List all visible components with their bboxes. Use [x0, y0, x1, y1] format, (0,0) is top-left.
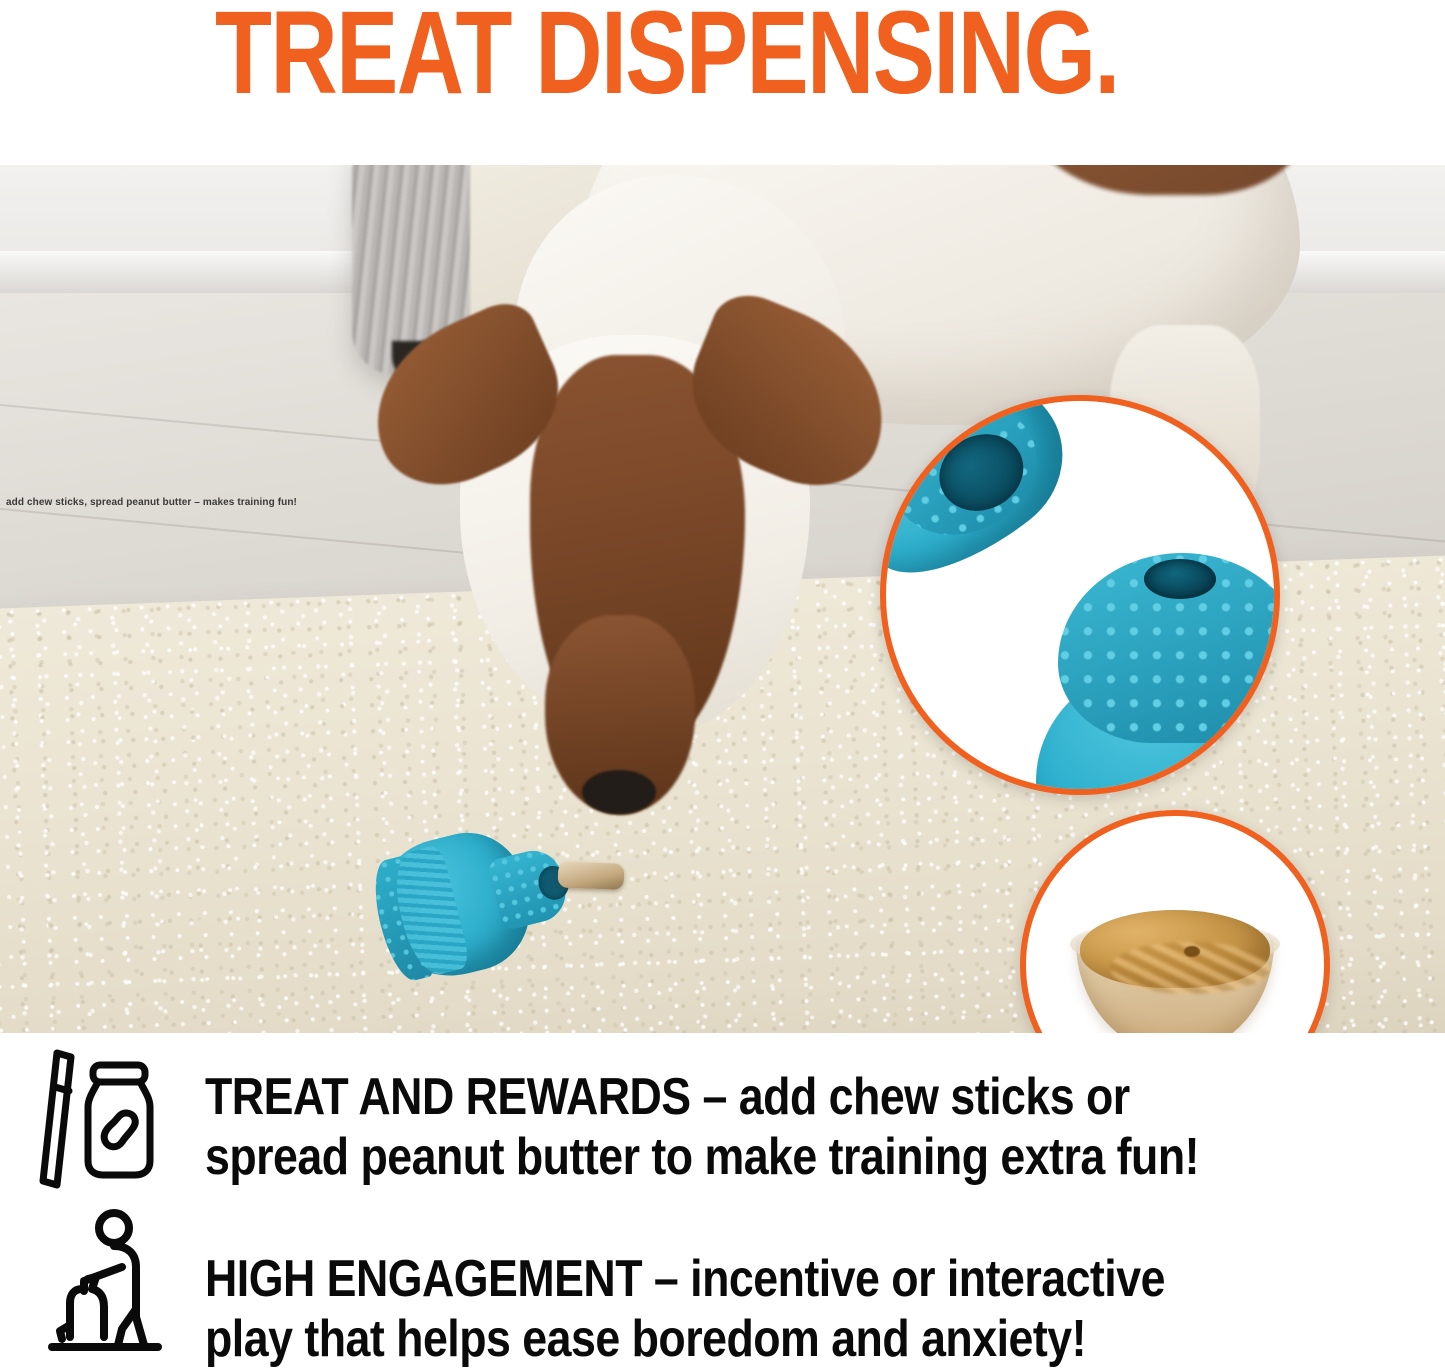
peanut-butter-bowl	[1066, 886, 1284, 1033]
feature-row: HIGH ENGAGEMENT – incentive or interacti…	[0, 1201, 1445, 1359]
feature-lead: HIGH ENGAGEMENT	[205, 1250, 642, 1308]
feature-dash: –	[691, 1068, 739, 1126]
chew-stick	[558, 862, 625, 890]
feature-row: TREAT AND REWARDS – add chew sticks or s…	[0, 1041, 1445, 1199]
page-title: TREAT DISPENSING.	[215, 0, 1119, 112]
photo-caption: add chew sticks, spread peanut butter – …	[6, 497, 297, 508]
product-infographic: TREAT DISPENSING.	[0, 0, 1445, 1354]
person-playing-with-dog-icon	[30, 1205, 180, 1355]
peanut-butter-fill	[1080, 910, 1270, 988]
toy-closeup-bottom	[1036, 541, 1280, 795]
toy-top-hole	[1144, 559, 1216, 599]
feature-dash: –	[642, 1250, 690, 1308]
inset-toy-closeup	[880, 395, 1280, 795]
feature-lead: TREAT AND REWARDS	[205, 1068, 691, 1126]
feature-list: TREAT AND REWARDS – add chew sticks or s…	[0, 1033, 1445, 1354]
feature-text: HIGH ENGAGEMENT – incentive or interacti…	[205, 1211, 1261, 1369]
header-banner: TREAT DISPENSING.	[0, 0, 1445, 165]
feature-text: TREAT AND REWARDS – add chew sticks or s…	[205, 1041, 1261, 1187]
dog-nose	[582, 770, 656, 814]
peanut-butter-spot	[1184, 946, 1200, 957]
hero-photo: add chew sticks, spread peanut butter – …	[0, 165, 1445, 1033]
chew-stick-and-peanut-butter-jar-icon	[30, 1045, 180, 1195]
